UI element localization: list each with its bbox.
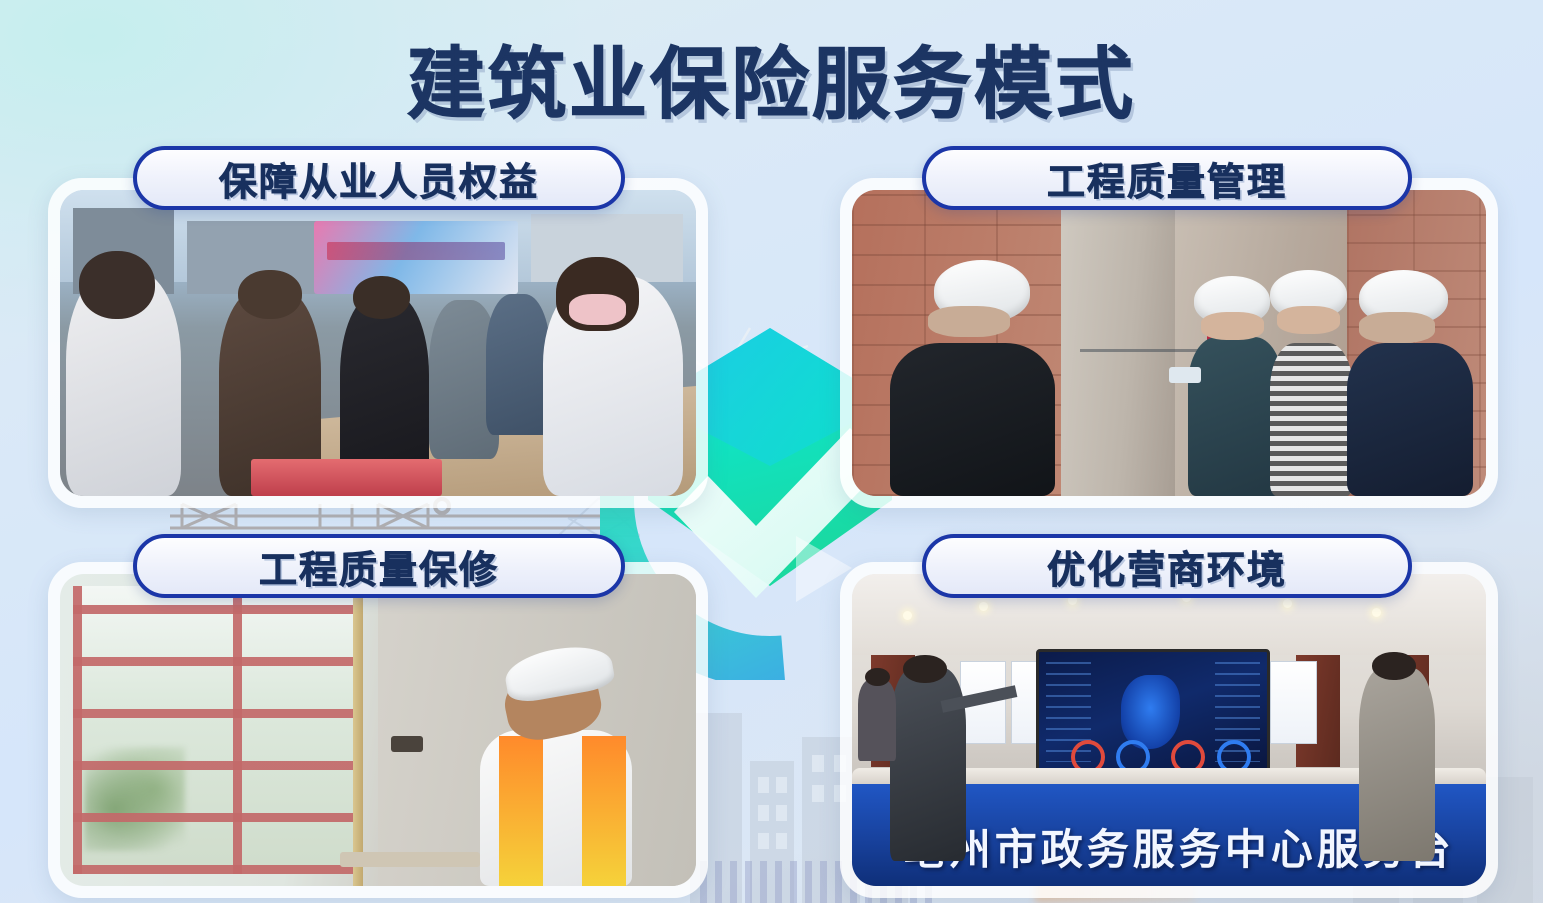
- poster-title: 建筑业保险服务模式: [0, 22, 1543, 134]
- badge-label-business-environment: 优化营商环境: [1047, 539, 1287, 594]
- photo-construction-site-inspection: [852, 190, 1486, 496]
- poster-root: 建筑业保险服务模式: [0, 0, 1543, 903]
- badge-quality-warranty[interactable]: 工程质量保修: [133, 534, 625, 598]
- badge-label-quality-warranty: 工程质量保修: [259, 539, 499, 594]
- badge-label-worker-rights: 保障从业人员权益: [219, 151, 539, 206]
- panel-quality-management[interactable]: [840, 178, 1498, 508]
- panel-quality-warranty[interactable]: [48, 562, 708, 898]
- node-dot-icon: [707, 365, 733, 391]
- photo-government-service-hall: 亳州市政务服务中心服务台: [852, 574, 1486, 886]
- badge-worker-rights[interactable]: 保障从业人员权益: [133, 146, 625, 210]
- data-dashboard-screen: [1036, 649, 1270, 786]
- panel-business-environment[interactable]: 亳州市政务服务中心服务台: [840, 562, 1498, 898]
- badge-quality-management[interactable]: 工程质量管理: [922, 146, 1412, 210]
- photo-interior-wall-inspection: [60, 574, 696, 886]
- badge-label-quality-management: 工程质量管理: [1047, 151, 1287, 206]
- photo-outdoor-consultation-booth: [60, 190, 696, 496]
- panel-worker-rights[interactable]: [48, 178, 708, 508]
- badge-business-environment[interactable]: 优化营商环境: [922, 534, 1412, 598]
